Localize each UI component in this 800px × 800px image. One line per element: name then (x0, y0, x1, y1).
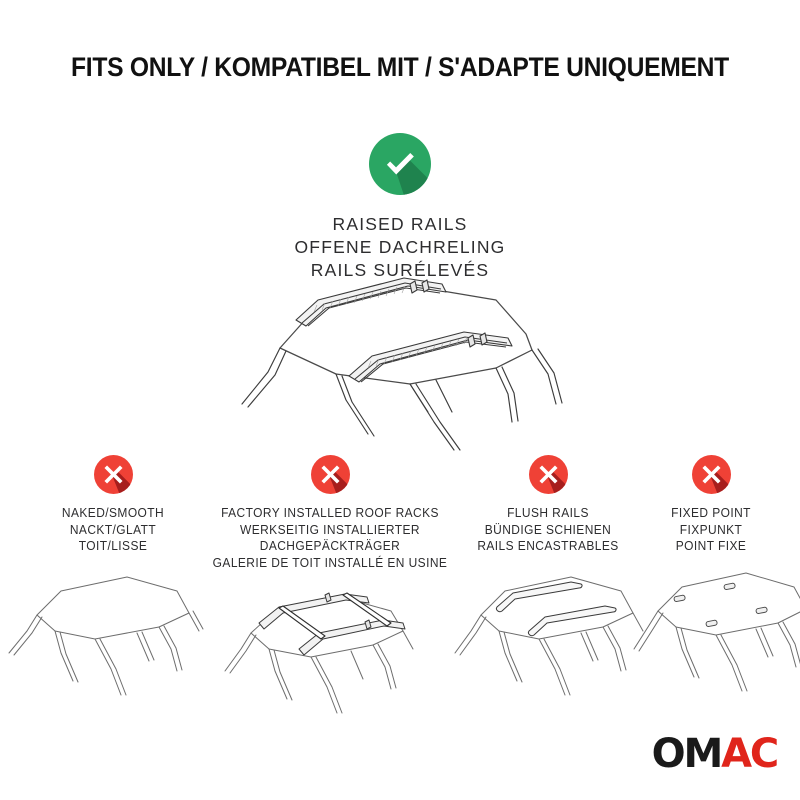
item-label-0: FLUSH RAILS (448, 505, 648, 522)
green-check-circle-icon (369, 133, 431, 195)
item-label-1: FIXPUNKT (629, 522, 792, 539)
item-labels: FLUSH RAILS BÜNDIGE SCHIENEN RAILS ENCAS… (448, 505, 648, 555)
not-compatible-item-factory-roof-racks: FACTORY INSTALLED ROOF RACKS WERKSEITIG … (200, 455, 460, 572)
red-x-circle-icon (443, 455, 653, 494)
item-labels: FACTORY INSTALLED ROOF RACKS WERKSEITIG … (207, 505, 454, 572)
raised-rails-illustration (196, 272, 616, 452)
item-label-0: NAKED/SMOOTH (9, 505, 218, 522)
item-labels: NAKED/SMOOTH NACKT/GLATT TOIT/LISSE (9, 505, 218, 555)
red-x-circle-icon (3, 455, 223, 494)
car-roof-with-crossbars-illustration (217, 589, 427, 729)
item-label-3: GALERIE DE TOIT INSTALLÉ EN USINE (207, 555, 454, 572)
omac-logo: OMAC (652, 734, 777, 774)
item-label-1: WERKSEITIG INSTALLIERTER (207, 522, 454, 539)
item-label-2: TOIT/LISSE (9, 538, 218, 555)
car-roof-bare-illustration (0, 569, 209, 719)
not-compatible-item-naked-smooth: NAKED/SMOOTH NACKT/GLATT TOIT/LISSE (3, 455, 223, 555)
item-labels: FIXED POINT FIXPUNKT POINT FIXE (629, 505, 792, 555)
approved-labels: RAISED RAILS OFFENE DACHRELING RAILS SUR… (0, 213, 800, 281)
item-label-1: BÜNDIGE SCHIENEN (448, 522, 648, 539)
logo-text-ac: AC (721, 731, 777, 777)
red-x-circle-icon (200, 455, 460, 494)
page-title: FITS ONLY / KOMPATIBEL MIT / S'ADAPTE UN… (28, 52, 772, 83)
item-label-2: POINT FIXE (629, 538, 792, 555)
approved-fitment-block: RAISED RAILS OFFENE DACHRELING RAILS SUR… (0, 133, 800, 281)
car-roof-flush-rails-illustration (447, 569, 647, 719)
approved-label-de: OFFENE DACHRELING (0, 236, 800, 259)
approved-label-en: RAISED RAILS (0, 213, 800, 236)
red-x-circle-icon (625, 455, 797, 494)
logo-text-om: OM (652, 731, 721, 777)
car-roof-fixed-points-illustration (628, 563, 800, 713)
not-compatible-item-flush-rails: FLUSH RAILS BÜNDIGE SCHIENEN RAILS ENCAS… (443, 455, 653, 555)
item-label-2: DACHGEPÄCKTRÄGER (207, 538, 454, 555)
item-label-2: RAILS ENCASTRABLES (448, 538, 648, 555)
item-label-0: FACTORY INSTALLED ROOF RACKS (207, 505, 454, 522)
fitment-infographic: FITS ONLY / KOMPATIBEL MIT / S'ADAPTE UN… (0, 0, 800, 800)
item-label-0: FIXED POINT (629, 505, 792, 522)
not-compatible-item-fixed-point: FIXED POINT FIXPUNKT POINT FIXE (625, 455, 797, 555)
item-label-1: NACKT/GLATT (9, 522, 218, 539)
